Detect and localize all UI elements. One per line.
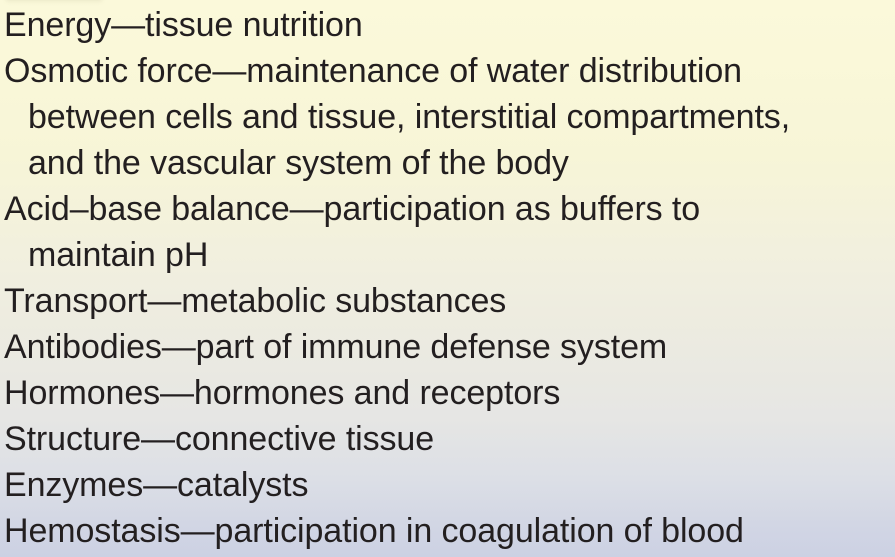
- list-line: Osmotic force—maintenance of water distr…: [4, 51, 895, 91]
- clipped-text-remnant-icon: [6, 0, 102, 3]
- list-line: Enzymes—catalysts: [4, 465, 895, 505]
- slide-canvas: Energy—tissue nutritionOsmotic force—mai…: [0, 0, 895, 557]
- list-line: Energy—tissue nutrition: [4, 5, 895, 45]
- list-line: Antibodies—part of immune defense system: [4, 327, 895, 367]
- list-line: between cells and tissue, interstitial c…: [28, 97, 895, 137]
- list-line: and the vascular system of the body: [28, 143, 895, 183]
- list-line: maintain pH: [28, 235, 895, 275]
- list-line: Hormones—hormones and receptors: [4, 373, 895, 413]
- list-line: Acid–base balance—participation as buffe…: [4, 189, 895, 229]
- list-line: Transport—metabolic substances: [4, 281, 895, 321]
- list-line: Structure—connective tissue: [4, 419, 895, 459]
- list-line: Hemostasis—participation in coagulation …: [4, 511, 895, 551]
